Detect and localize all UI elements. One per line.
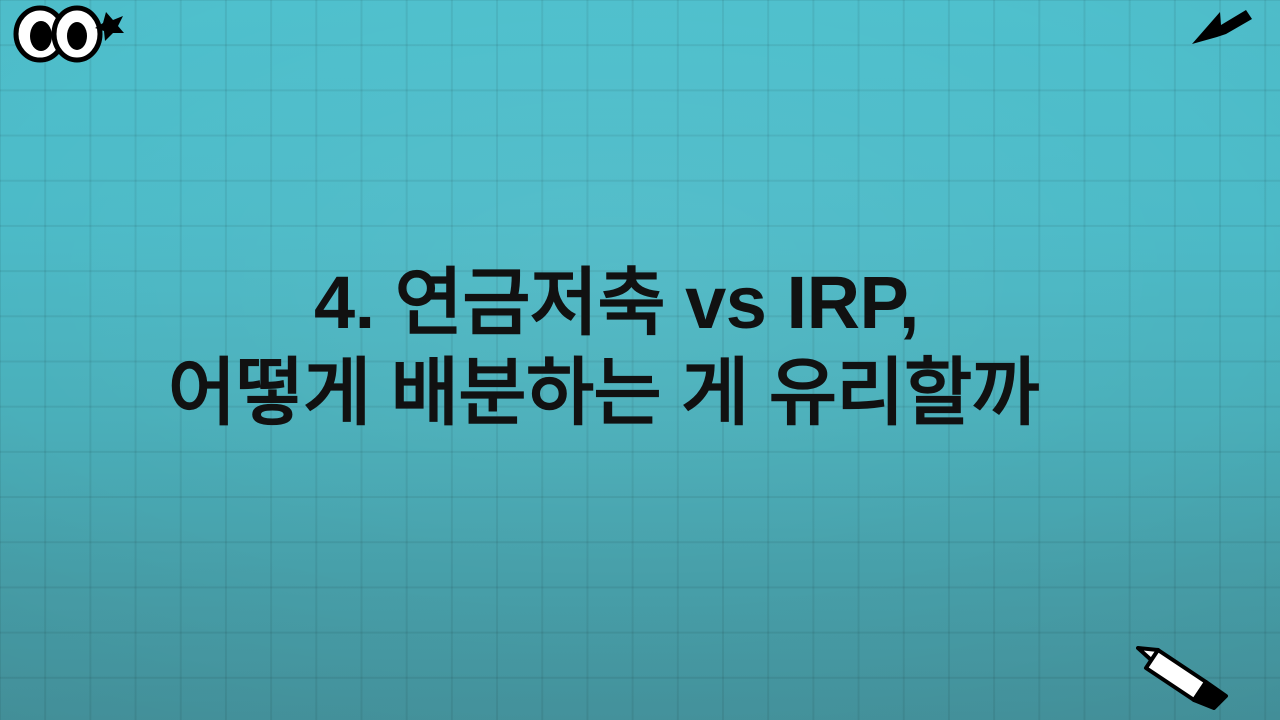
eye-right-icon (54, 8, 100, 60)
title-line-1: 4. 연금저축 vs IRP, (0, 258, 1280, 348)
pencil-doodle-icon (1136, 638, 1236, 710)
slide-canvas: 4. 연금저축 vs IRP, 어떻게 배분하는 게 유리할까 (0, 0, 1280, 720)
googly-eyes-logo (6, 3, 124, 65)
page-title: 4. 연금저축 vs IRP, 어떻게 배분하는 게 유리할까 (0, 258, 1280, 439)
arrow-pointer-icon (1190, 6, 1252, 56)
title-line-2: 어떻게 배분하는 게 유리할까 (0, 348, 1280, 438)
